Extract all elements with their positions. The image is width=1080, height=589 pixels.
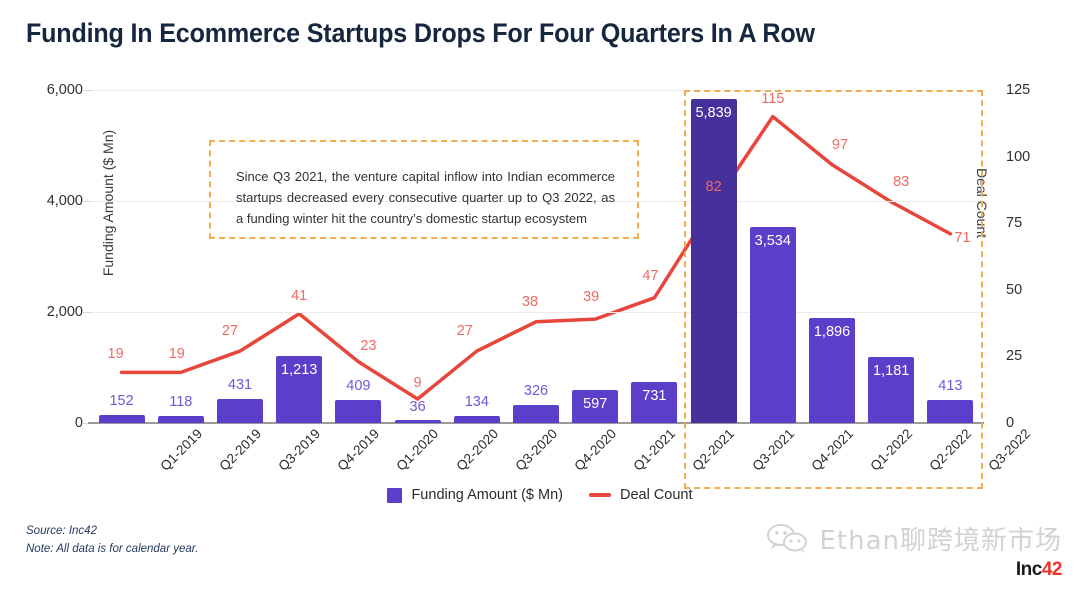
bar[interactable] — [335, 400, 381, 423]
line-value-label: 23 — [360, 338, 376, 354]
legend-item-funding[interactable]: Funding Amount ($ Mn) — [387, 487, 563, 503]
watermark-account: Ethan聊跨境新市场 — [819, 520, 1062, 557]
legend-label-deal-count: Deal Count — [620, 487, 693, 503]
x-axis-tick-label: Q4-2020 — [571, 426, 619, 474]
bar[interactable] — [217, 399, 263, 423]
line-value-label: 27 — [222, 323, 238, 339]
legend-item-deal-count[interactable]: Deal Count — [589, 487, 693, 503]
legend-label-funding: Funding Amount ($ Mn) — [411, 487, 563, 503]
annotation-box: Since Q3 2021, the venture capital inflo… — [209, 140, 639, 239]
footer-notes: Source: Inc42 Note: All data is for cale… — [26, 523, 198, 559]
y-axis-tick-mark — [82, 312, 92, 313]
x-axis-tick-label: Q2-2019 — [216, 426, 264, 474]
bar-value-label: 1,213 — [281, 362, 317, 378]
source-text: Source: Inc42 — [26, 523, 198, 541]
y-axis-tick-left: 4,000 — [47, 193, 83, 209]
line-value-label: 38 — [522, 294, 538, 310]
page-title: Funding In Ecommerce Startups Drops For … — [26, 18, 815, 49]
bar-value-label: 134 — [465, 394, 489, 410]
bar[interactable] — [395, 420, 441, 423]
bar-value-label: 431 — [228, 377, 252, 393]
line-value-label: 19 — [169, 346, 185, 362]
y-axis-tick-right: 25 — [1006, 348, 1022, 364]
inc42-logo: Inc42 — [766, 559, 1062, 581]
x-axis-tick-label: Q3-2020 — [512, 426, 560, 474]
y-axis-tick-mark — [82, 90, 92, 91]
watermark: Ethan聊跨境新市场 Inc42 — [766, 520, 1062, 581]
bar[interactable] — [158, 416, 204, 423]
bar-value-label: 597 — [583, 396, 607, 412]
line-value-label: 9 — [414, 375, 422, 391]
y-axis-tick-right: 0 — [1006, 415, 1014, 431]
bar-value-label: 731 — [642, 388, 666, 404]
x-axis-tick-label: Q2-2020 — [453, 426, 501, 474]
y-axis-tick-right: 100 — [1006, 149, 1030, 165]
bar-value-label: 409 — [346, 378, 370, 394]
y-axis-label-left: Funding Amount ($ Mn) — [100, 113, 116, 293]
chart-page: Funding In Ecommerce Startups Drops For … — [0, 0, 1080, 589]
logo-text: Inc — [1016, 559, 1042, 580]
x-axis-tick-label: Q1-2020 — [394, 426, 442, 474]
bar[interactable] — [454, 416, 500, 423]
chart-legend: Funding Amount ($ Mn) Deal Count — [0, 487, 1080, 503]
bar-value-label: 118 — [169, 394, 192, 410]
x-axis-tick-label: Q3-2019 — [275, 426, 323, 474]
highlight-region-box — [684, 90, 983, 489]
y-axis-tick-right: 75 — [1006, 215, 1022, 231]
x-axis-tick-label: Q3-2022 — [986, 426, 1034, 474]
x-axis-tick-label: Q4-2019 — [335, 426, 383, 474]
x-axis-tick-label: Q1-2021 — [631, 426, 679, 474]
wechat-icon — [766, 524, 810, 554]
annotation-text: Since Q3 2021, the venture capital inflo… — [211, 142, 637, 229]
bar-value-label: 36 — [410, 399, 426, 415]
logo-number: 42 — [1042, 559, 1062, 580]
bar-value-label: 326 — [524, 383, 548, 399]
bar[interactable] — [513, 405, 559, 423]
y-axis-tick-right: 125 — [1006, 82, 1030, 98]
legend-swatch-bar-icon — [387, 488, 402, 503]
line-value-label: 39 — [583, 289, 599, 305]
y-axis-tick-left: 6,000 — [47, 82, 83, 98]
y-axis-tick-left: 2,000 — [47, 304, 83, 320]
x-axis-tick-label: Q1-2019 — [157, 426, 205, 474]
y-axis-tick-right: 50 — [1006, 282, 1022, 298]
line-value-label: 19 — [108, 346, 124, 362]
bar-value-label: 152 — [109, 393, 133, 409]
line-value-label: 27 — [457, 323, 473, 339]
line-value-label: 41 — [291, 288, 307, 304]
note-text: Note: All data is for calendar year. — [26, 541, 198, 559]
line-value-label: 47 — [642, 268, 658, 284]
y-axis-tick-mark — [82, 201, 92, 202]
legend-swatch-line-icon — [589, 493, 611, 497]
bar[interactable] — [99, 415, 145, 423]
